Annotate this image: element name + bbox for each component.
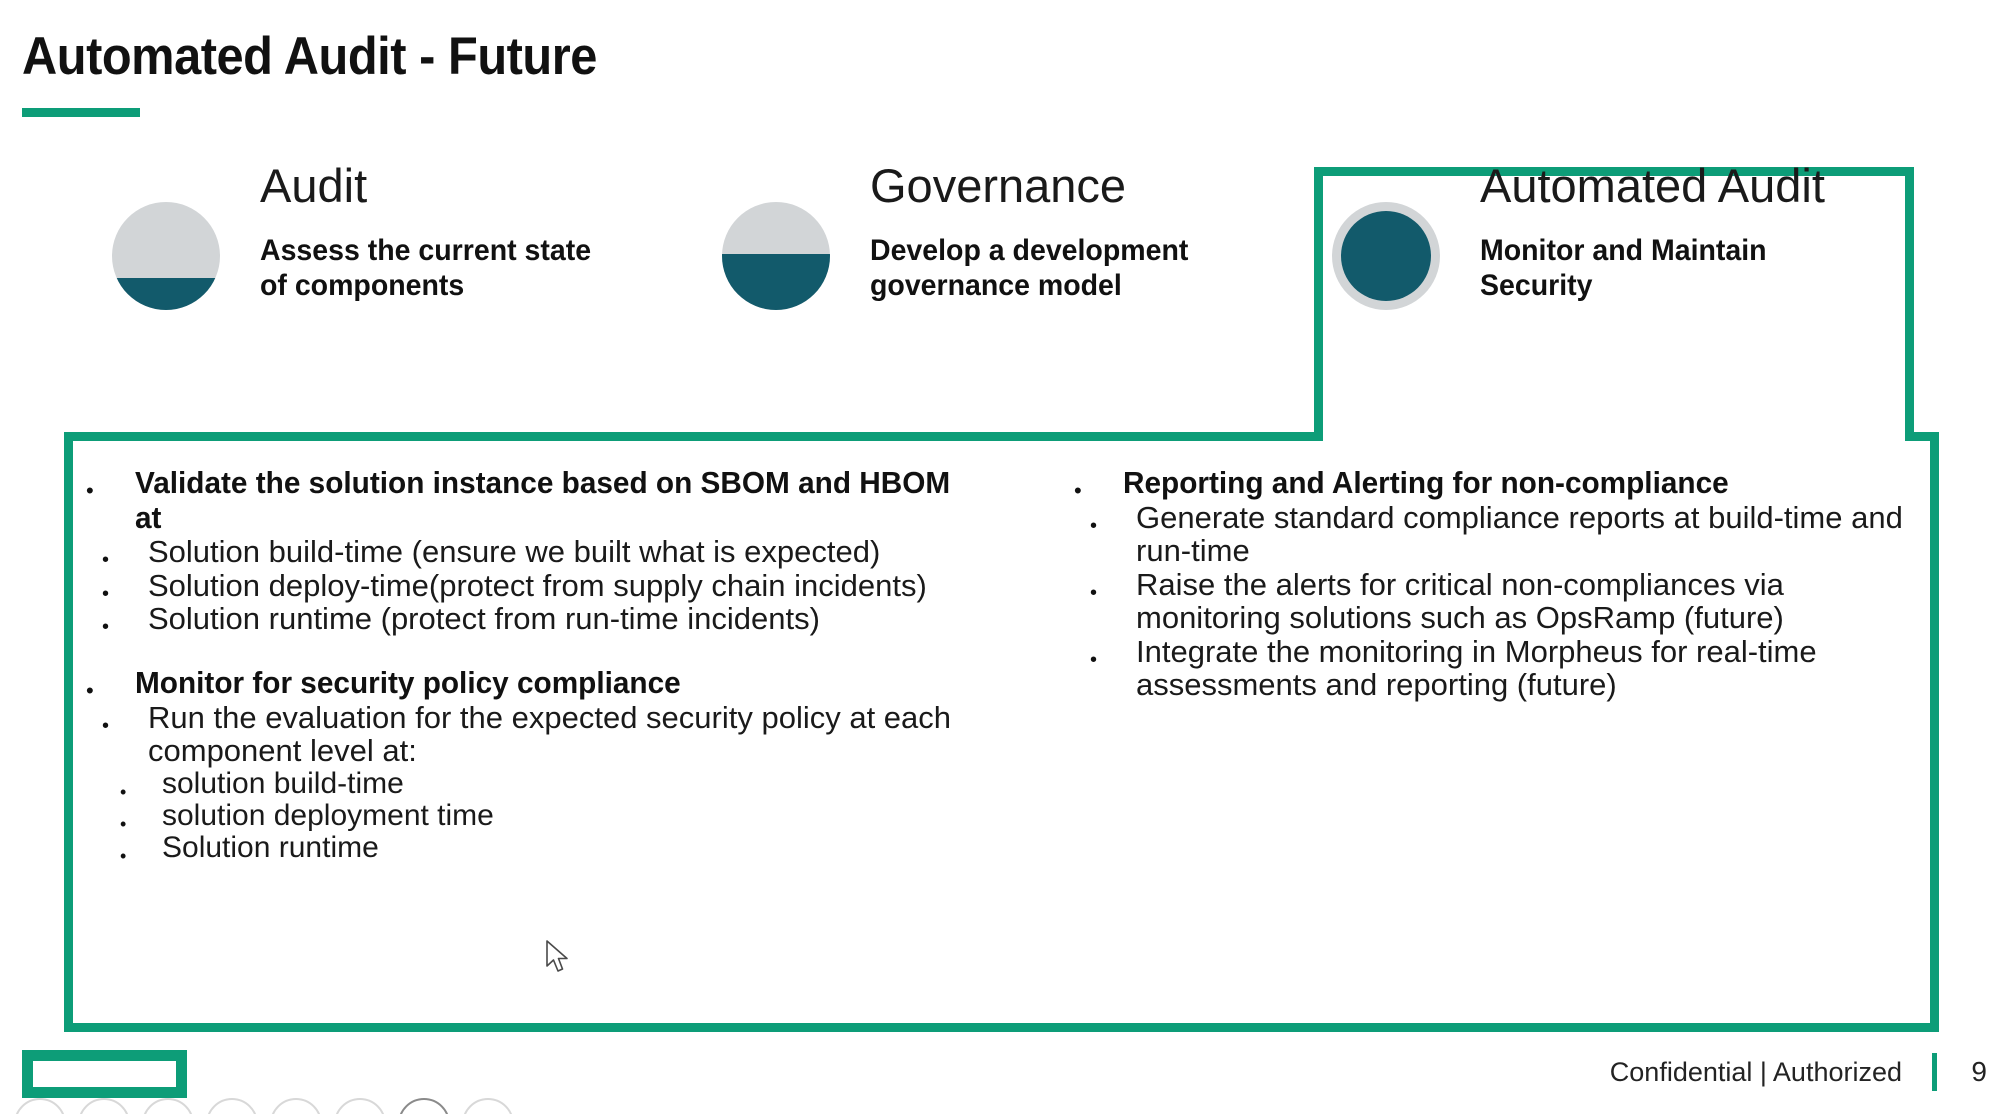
bullet-glyph: •: [102, 584, 109, 604]
confidentiality-notice: Confidential | Authorized: [1610, 1057, 1902, 1088]
bullet-glyph: •: [102, 617, 109, 637]
list-item: • Solution deploy-time(protect from supp…: [80, 569, 1010, 602]
bullet-text: Solution runtime (protect from run-time …: [148, 602, 1010, 635]
bullet-glyph: •: [120, 847, 126, 865]
bullet-glyph: •: [1090, 583, 1097, 603]
progress-circle-icon: [1332, 202, 1440, 310]
list-item: • Solution runtime: [80, 832, 1010, 864]
bullet-text: Generate standard compliance reports at …: [1136, 501, 1928, 568]
bullet-column-left: • Validate the solution instance based o…: [80, 466, 1010, 867]
taskbar: [0, 1098, 2013, 1114]
bullet-text: Solution runtime: [162, 832, 1010, 864]
list-item: • Solution runtime (protect from run-tim…: [80, 602, 1010, 635]
list-item: • Monitor for security policy compliance…: [80, 666, 1010, 865]
bullet-glyph: •: [86, 680, 94, 702]
progress-circle-icon: [722, 202, 830, 310]
list-item: • Run the evaluation for the expected se…: [80, 701, 1010, 865]
taskbar-icon-start[interactable]: [14, 1098, 66, 1114]
list-item: • Validate the solution instance based o…: [80, 466, 1010, 636]
slide-canvas: Automated Audit - Future Audit Assess th…: [0, 0, 2013, 1114]
bullet-text: Solution deploy-time(protect from supply…: [148, 569, 1010, 602]
taskbar-icon-presentation[interactable]: [398, 1098, 450, 1114]
list-item: • Raise the alerts for critical non-comp…: [1068, 568, 1928, 635]
taskbar-icon-window[interactable]: [206, 1098, 258, 1114]
list-item: • Generate standard compliance reports a…: [1068, 501, 1928, 568]
title-underline-rule: [22, 108, 140, 117]
bullet-text: Monitor for security policy compliance: [135, 666, 975, 701]
taskbar-icon-search[interactable]: [78, 1098, 130, 1114]
hpe-logo: [22, 1050, 187, 1098]
stage-name: Audit: [260, 160, 609, 213]
bullet-glyph: •: [120, 815, 126, 833]
bullet-text: Integrate the monitoring in Morpheus for…: [1136, 635, 1928, 702]
stage-audit: Audit Assess the current state of compon…: [112, 160, 609, 310]
box-seam-mask: [1323, 423, 1905, 443]
bullet-text: solution build-time: [162, 768, 1010, 800]
list-spacer: [80, 638, 1010, 666]
bullet-glyph: •: [102, 550, 109, 570]
stage-subtitle: Monitor and Maintain Security: [1480, 233, 1808, 304]
bullet-text: Run the evaluation for the expected secu…: [148, 701, 1010, 768]
bullet-text: Solution build-time (ensure we built wha…: [148, 535, 1010, 568]
list-item: • Reporting and Alerting for non-complia…: [1068, 466, 1928, 702]
taskbar-icon-mail[interactable]: [334, 1098, 386, 1114]
bullet-glyph: •: [1074, 480, 1082, 502]
bullet-text: solution deployment time: [162, 800, 1010, 832]
list-item: • solution build-time: [80, 768, 1010, 800]
footer-divider: [1932, 1053, 1937, 1091]
list-item: • Solution build-time (ensure we built w…: [80, 535, 1010, 568]
taskbar-icon-browser[interactable]: [270, 1098, 322, 1114]
stage-subtitle: Assess the current state of components: [260, 233, 591, 304]
stage-automated-audit: Automated Audit Monitor and Maintain Sec…: [1332, 160, 1825, 310]
page-number: 9: [1965, 1056, 1987, 1088]
progress-circle-icon: [112, 202, 220, 310]
bullet-column-right: • Reporting and Alerting for non-complia…: [1068, 466, 1928, 704]
stage-name: Governance: [870, 160, 1205, 213]
stage-name: Automated Audit: [1480, 160, 1825, 213]
bullet-text: Validate the solution instance based on …: [135, 466, 975, 535]
bullet-text: Raise the alerts for critical non-compli…: [1136, 568, 1928, 635]
bullet-text: Reporting and Alerting for non-complianc…: [1123, 466, 1896, 501]
stage-governance: Governance Develop a development governa…: [722, 160, 1205, 310]
list-item: • solution deployment time: [80, 800, 1010, 832]
taskbar-icon-home[interactable]: [142, 1098, 194, 1114]
footer: Confidential | Authorized 9: [1610, 1053, 1987, 1091]
bullet-glyph: •: [120, 783, 126, 801]
page-title: Automated Audit - Future: [22, 26, 597, 87]
bullet-glyph: •: [1090, 650, 1097, 670]
taskbar-icon-app[interactable]: [462, 1098, 514, 1114]
list-item: • Integrate the monitoring in Morpheus f…: [1068, 635, 1928, 702]
bullet-glyph: •: [1090, 516, 1097, 536]
stage-subtitle: Develop a development governance model: [870, 233, 1188, 304]
bullet-glyph: •: [102, 716, 109, 736]
bullet-glyph: •: [86, 480, 94, 502]
